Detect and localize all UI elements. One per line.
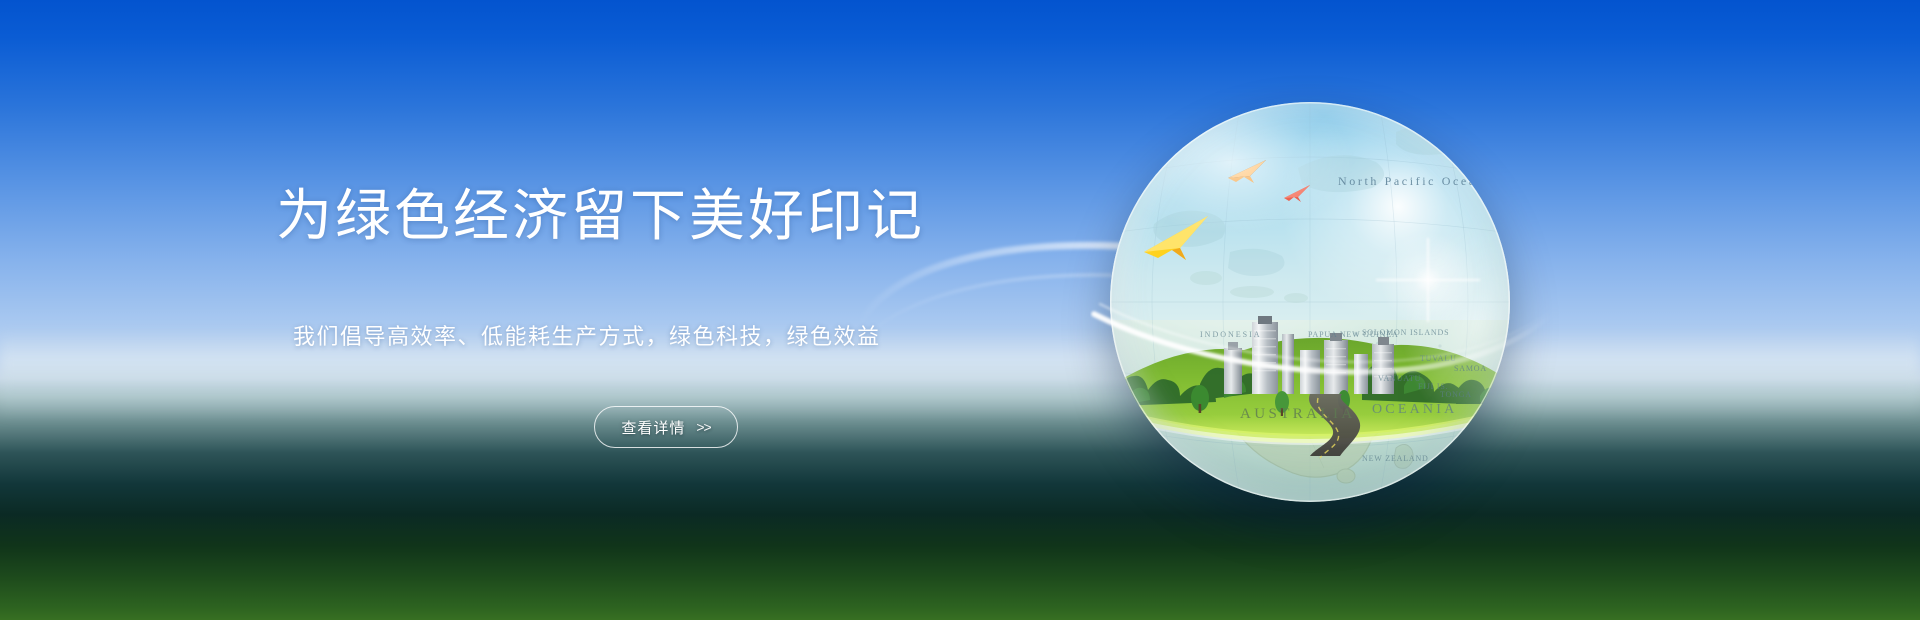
paper-plane-orange-icon (1226, 152, 1278, 186)
hero-banner: 为绿色经济留下美好印记 我们倡导高效率、低能耗生产方式，绿色科技，绿色效益 查看… (0, 0, 1920, 620)
banner-copy: 为绿色经济留下美好印记 我们倡导高效率、低能耗生产方式，绿色科技，绿色效益 查看… (0, 0, 1080, 620)
paper-plane-red-icon (1282, 180, 1318, 204)
paper-plane-yellow-icon (1140, 198, 1230, 268)
view-details-label: 查看详情 (621, 417, 685, 438)
glass-globe: North Pacific Ocean AUSTRALIA OCEANIA IN… (1110, 102, 1510, 502)
horizon-haze (0, 330, 1920, 420)
page-title: 为绿色经济留下美好印记 (276, 181, 925, 251)
banner-subtitle: 我们倡导高效率、低能耗生产方式，绿色科技，绿色效益 (293, 322, 881, 353)
chevron-right-icon: >> (696, 419, 710, 435)
globe-illustration: North Pacific Ocean AUSTRALIA OCEANIA IN… (1110, 102, 1510, 502)
view-details-button[interactable]: 查看详情 >> (594, 406, 738, 448)
green-hill-scene (1110, 316, 1510, 502)
